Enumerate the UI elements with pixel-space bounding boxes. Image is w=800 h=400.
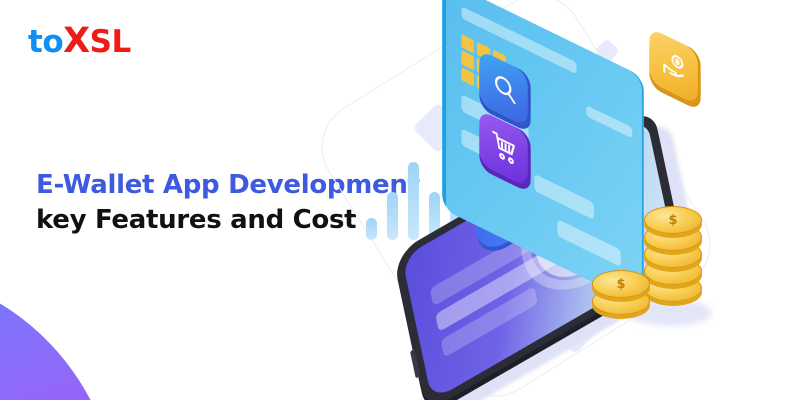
shopping-cart-icon bbox=[491, 127, 520, 171]
coin: $ bbox=[644, 206, 702, 234]
toxsl-logo[interactable]: toXSL bbox=[28, 24, 131, 59]
hand-holding-coin-icon bbox=[661, 45, 690, 89]
magnifier-icon bbox=[491, 67, 520, 111]
corner-gradient-blob bbox=[0, 270, 120, 400]
chart-bar bbox=[408, 162, 419, 240]
logo-part-sl: SL bbox=[90, 24, 131, 60]
coin-stack-front: $ bbox=[592, 270, 652, 330]
logo-part-x: X bbox=[63, 21, 90, 61]
banner-canvas: toXSL E-Wallet App Development key Featu… bbox=[0, 0, 800, 400]
card-stripe bbox=[534, 174, 594, 220]
coin: $ bbox=[592, 270, 650, 298]
chart-bar bbox=[366, 218, 377, 240]
card-stripe bbox=[557, 219, 620, 267]
card-stripe bbox=[586, 105, 632, 138]
logo-part-to: to bbox=[28, 24, 63, 60]
card-edge bbox=[442, 0, 446, 211]
coin-symbol: $ bbox=[593, 271, 649, 297]
chart-bar bbox=[387, 192, 398, 240]
coin-symbol: $ bbox=[645, 207, 701, 233]
hero-illustration: PAY NOW bbox=[360, 0, 800, 400]
phone-side-button bbox=[410, 349, 420, 379]
coin-stack-back: $ bbox=[644, 206, 704, 326]
